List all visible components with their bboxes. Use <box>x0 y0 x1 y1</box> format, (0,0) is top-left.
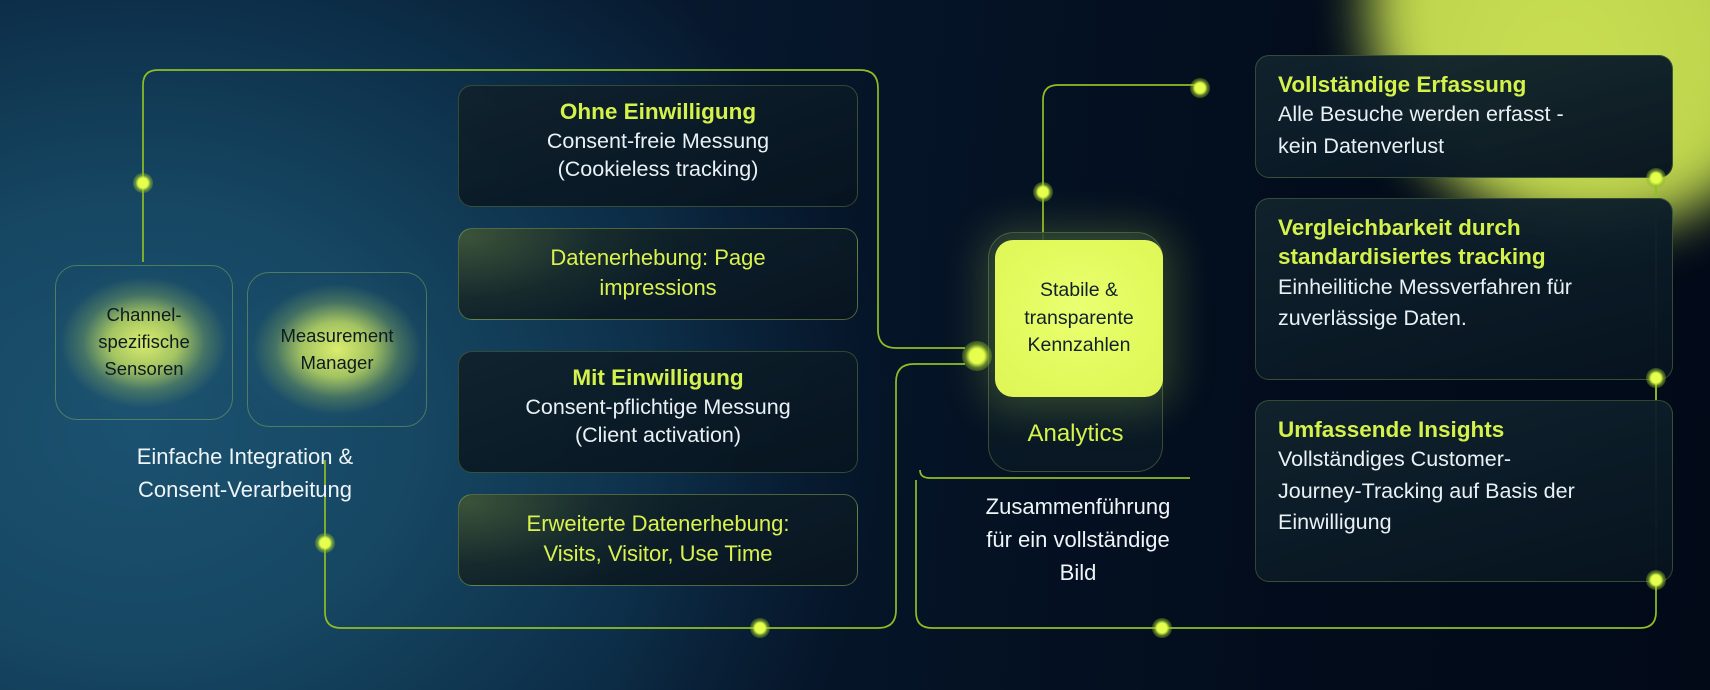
connector-dot-right-top-branch <box>1190 78 1210 98</box>
analytics-node-label: Analytics <box>988 420 1163 448</box>
connector-dot-bottom-left <box>315 533 335 553</box>
rcard-title: Vergleichbarkeit durch standardisiertes … <box>1278 213 1650 272</box>
connector-dot-bottom-right <box>1152 618 1172 638</box>
card-erweiterte-datenerhebung[interactable]: Erweiterte Datenerhebung: Visits, Visito… <box>458 494 858 586</box>
connector-dot-bottom-mid <box>750 618 770 638</box>
card-ohne-einwilligung[interactable]: Ohne Einwilligung Consent-freie Messung … <box>458 85 858 207</box>
card-subline: Consent-pflichtige Messung (Client activ… <box>477 393 839 450</box>
rcard-body: Alle Besuche werden erfasst - kein Daten… <box>1278 99 1650 162</box>
rcard-vollstaendige-erfassung[interactable]: Vollständige Erfassung Alle Besuche werd… <box>1255 55 1673 178</box>
card-mit-einwilligung[interactable]: Mit Einwilligung Consent-pflichtige Mess… <box>458 351 858 473</box>
rcard-body: Einheilitiche Messverfahren für zuverläs… <box>1278 272 1650 335</box>
left-caption: Einfache Integration & Consent-Verarbeit… <box>60 440 430 506</box>
card-datenerhebung-page-impressions[interactable]: Datenerhebung: Page impressions <box>458 228 858 320</box>
analytics-chip[interactable]: Stabile & transparente Kennzahlen <box>995 240 1163 397</box>
rcard-vergleichbarkeit[interactable]: Vergleichbarkeit durch standardisiertes … <box>1255 198 1673 380</box>
center-caption: Zusammenführung für ein vollständige Bil… <box>948 490 1208 589</box>
connector-dot-analytics-in <box>962 341 992 371</box>
rcard-umfassende-insights[interactable]: Umfassende Insights Vollständiges Custom… <box>1255 400 1673 582</box>
card-text: Datenerhebung: Page impressions <box>477 243 839 302</box>
rcard-title: Vollständige Erfassung <box>1278 70 1650 99</box>
diagram-canvas: Channel- spezifische Sensoren Measuremen… <box>0 0 1710 690</box>
card-headline: Mit Einwilligung <box>477 364 839 393</box>
pad-label: Measurement Manager <box>270 323 403 377</box>
rcard-body: Vollständiges Customer- Journey-Tracking… <box>1278 444 1650 539</box>
connector-dot-rail-2 <box>1646 368 1666 388</box>
card-text: Erweiterte Datenerhebung: Visits, Visito… <box>477 509 839 568</box>
pad-label: Channel- spezifische Sensoren <box>88 302 200 382</box>
card-subline: Consent-freie Messung (Cookieless tracki… <box>477 127 839 184</box>
rcard-title: Umfassende Insights <box>1278 415 1650 444</box>
card-headline: Ohne Einwilligung <box>477 98 839 127</box>
pad-channel-sensors[interactable]: Channel- spezifische Sensoren <box>55 265 233 420</box>
connector-dot-rail-3 <box>1646 570 1666 590</box>
pad-measurement-manager[interactable]: Measurement Manager <box>247 272 427 427</box>
connector-dot-left-sensors <box>133 173 153 193</box>
connector-dot-rail-1 <box>1646 168 1666 188</box>
connector-dot-analytics-stem <box>1033 182 1053 202</box>
